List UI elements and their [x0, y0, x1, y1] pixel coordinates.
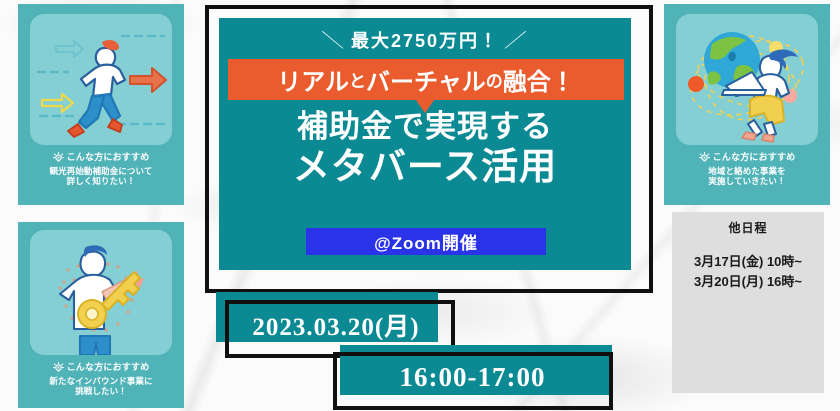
band-part-4: 融合！ — [503, 62, 575, 97]
hero-title-line2: メタバース活用 — [219, 147, 631, 188]
card-heading-text: こんな方におすすめ — [67, 362, 150, 374]
band-part-3: の — [486, 67, 503, 92]
zoom-badge: @Zoom開催 — [306, 228, 546, 255]
card-caption-inbound: こんな方におすすめ 新たなインバウンド事業に 挑戦したい！ — [18, 362, 184, 397]
band-part-0: リアル — [277, 62, 349, 97]
card-heading-row: こんな方におすすめ — [18, 152, 184, 164]
illustration-globe-laptop — [676, 14, 818, 145]
event-time: 16:00-17:00 — [340, 352, 605, 402]
lightbulb-icon — [699, 152, 710, 163]
poster-canvas: こんな方におすすめ 観光再始動補助金について 詳しく知りたい！ — [0, 0, 840, 411]
slash-left-icon: ＼ — [320, 26, 347, 53]
orange-banner-text: リアル と バーチャル の 融合！ — [228, 59, 624, 100]
hero-kicker: ＼ 最大2750万円！ ／ — [219, 26, 631, 53]
other-schedule-entry-0: 3月17日(金) 10時~ — [672, 252, 824, 272]
card-body-line2: 挑戦したい！ — [18, 386, 184, 397]
card-regional-business: こんな方におすすめ 地域と絡めた事業を 実施していきたい！ — [664, 4, 830, 205]
card-heading-row: こんな方におすすめ — [18, 362, 184, 374]
card-tourism-restart: こんな方におすすめ 観光再始動補助金について 詳しく知りたい！ — [18, 4, 184, 205]
card-body-line1: 地域と絡めた事業を — [664, 166, 830, 177]
card-heading-row: こんな方におすすめ — [664, 152, 830, 164]
hero-kicker-text: 最大2750万円！ — [351, 27, 499, 53]
card-heading-text: こんな方におすすめ — [713, 152, 796, 164]
lightbulb-icon — [53, 152, 64, 163]
hero-title: 補助金で実現する メタバース活用 — [219, 110, 631, 187]
man-with-key-icon — [30, 230, 172, 355]
other-schedule-panel — [672, 212, 824, 393]
band-part-1: と — [349, 67, 366, 92]
card-body-line2: 詳しく知りたい！ — [18, 176, 184, 187]
card-body-line1: 観光再始動補助金について — [18, 166, 184, 177]
slash-right-icon: ／ — [503, 26, 530, 53]
card-body-line1: 新たなインバウンド事業に — [18, 376, 184, 387]
other-schedule-list: 3月17日(金) 10時~ 3月20日(月) 16時~ — [672, 252, 824, 292]
hero-title-line1: 補助金で実現する — [219, 110, 631, 145]
event-date: 2023.03.20(月) — [225, 300, 447, 350]
card-caption-tourism: こんな方におすすめ 観光再始動補助金について 詳しく知りたい！ — [18, 152, 184, 187]
hero-orange-banner: リアル と バーチャル の 融合！ — [228, 59, 624, 100]
card-heading-text: こんな方におすすめ — [67, 152, 150, 164]
running-person-icon — [30, 14, 172, 145]
band-part-2: バーチャル — [366, 62, 486, 97]
other-schedule-entry-1: 3月20日(月) 16時~ — [672, 272, 824, 292]
card-inbound-business: こんな方におすすめ 新たなインバウンド事業に 挑戦したい！ — [18, 222, 184, 408]
card-caption-regional: こんな方におすすめ 地域と絡めた事業を 実施していきたい！ — [664, 152, 830, 187]
illustration-golden-key — [30, 230, 172, 355]
person-with-globe-icon — [676, 14, 818, 145]
other-schedule-title: 他日程 — [672, 219, 824, 236]
illustration-running-person — [30, 14, 172, 145]
card-body-line2: 実施していきたい！ — [664, 176, 830, 187]
lightbulb-icon — [53, 362, 64, 373]
